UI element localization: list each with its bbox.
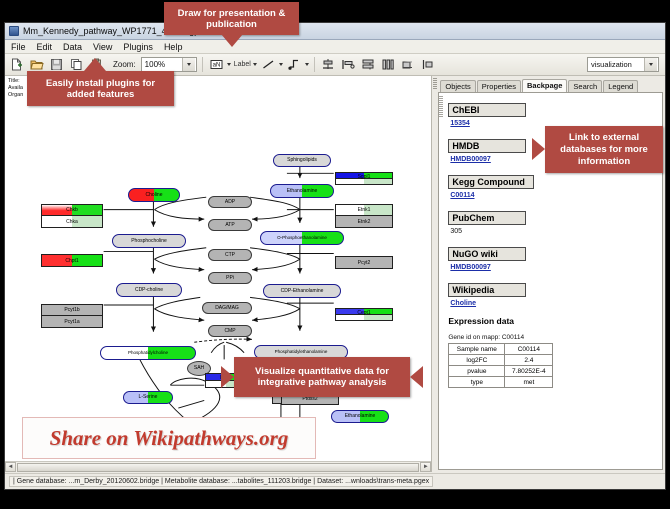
expression-data-heading: Expression data [448,316,662,326]
visualization-combo[interactable]: visualization [587,57,659,72]
side-panel-tabs: Objects Properties Backpage Search Legen… [432,76,665,92]
label-tool-label: Label [234,61,251,68]
pathway-availability-label: Availa [8,85,23,92]
metabolite-node[interactable]: Phosphocholine [112,234,186,248]
callout-plugins: Easily install plugins for added feature… [27,71,174,106]
scroll-thumb[interactable] [17,463,419,472]
scroll-left-arrow-icon[interactable]: ◄ [5,462,16,472]
zoom-combo[interactable]: 100% [141,57,197,72]
menu-data[interactable]: Data [62,42,83,52]
new-file-icon[interactable] [8,56,25,73]
ungroup-icon[interactable] [420,56,437,73]
window-titlebar: Mm_Kennedy_pathway_WP1771_45176.gpml [5,23,665,40]
backpage-section-header-kegg: Kegg Compound [448,175,534,189]
callout-share-text: Share on Wikipathways.org [50,426,289,451]
cofactor-node[interactable]: CTP [208,249,252,261]
menu-edit[interactable]: Edit [36,42,54,52]
gene-box-chpt1[interactable]: Chpt1 [41,254,103,267]
callout-draw-arrow-icon [221,34,243,47]
callout-draw: Draw for presentation & publication [164,2,299,35]
expression-half-left [336,179,364,184]
connector-tool[interactable] [286,56,309,73]
gene-label: Sgpl1 [336,175,392,178]
visualization-chevron-down-icon[interactable] [644,58,657,71]
expression-half-right [364,315,392,320]
connector-icon[interactable] [286,56,303,73]
expression-half-left [336,315,364,320]
backpage-section-header-wikipedia: Wikipedia [448,283,526,297]
zoom-label: Zoom: [113,60,136,69]
table-cell-value: met [505,377,553,388]
table-cell-key: log2FC [449,355,505,366]
gene-label: Etnk2 [336,216,392,227]
align-center-icon[interactable] [320,56,337,73]
backpage-section-header-chebi: ChEBI [448,103,526,117]
gene-row[interactable]: Pcyt1a [42,316,102,327]
gene-box-cept1[interactable]: Cept1 [335,308,393,321]
backpage-section-header-hmdb: HMDB [448,139,526,153]
gene-row-lower[interactable] [336,179,392,184]
backpage-section-header-pubchem: PubChem [448,211,526,225]
backpage-link-nugo[interactable]: HMDB00097 [450,264,662,271]
label-tool[interactable]: Label [234,61,257,68]
pathway-metadata: Title: Availa Organ [8,78,23,99]
datanode-tool[interactable]: aN [208,56,231,73]
table-cell-key: Sample name [449,344,505,355]
callout-visualize-arrow-left-icon [221,366,234,388]
gene-row[interactable]: Etnk2 [336,216,392,227]
pathway-organism-label: Organ [8,92,23,99]
callout-visualize: Visualize quantitative data for integrat… [234,357,410,397]
cofactor-node[interactable]: DAG/MAG [202,302,252,314]
gene-row[interactable]: Pcyt1b [42,305,102,316]
tab-objects[interactable]: Objects [440,80,475,92]
gene-label: Etnk1 [336,205,392,215]
menu-help[interactable]: Help [163,42,184,52]
gene-row[interactable]: Pcyt2 [336,257,392,268]
line-tool[interactable] [260,56,283,73]
cofactor-node[interactable]: ADP [208,196,252,208]
tab-backpage[interactable]: Backpage [522,79,567,92]
datanode-icon[interactable]: aN [208,56,225,73]
gene-row[interactable]: Chkb [42,205,102,216]
gene-box-pcyt1[interactable]: Pcyt1b Pcyt1a [41,304,103,328]
tab-search[interactable]: Search [568,80,602,92]
gene-label: Chka [42,216,102,227]
pathway-drawing[interactable]: Title: Availa Organ [5,76,431,472]
tab-properties[interactable]: Properties [477,80,521,92]
cofactor-node[interactable]: ATP [208,219,252,231]
table-cell-value: 7.80252E-4 [505,366,553,377]
metabolite-node[interactable]: Phosphatidylcholine [100,346,196,360]
align-left-icon[interactable] [340,56,357,73]
table-row: Sample name C00114 [449,344,553,355]
backpage-value-pubchem: 305 [450,228,662,235]
statusbar-text: | Gene database: ...m_Derby_20120602.bri… [9,476,433,487]
gene-row-lower[interactable] [336,315,392,320]
backpage-section-header-nugo: NuGO wiki [448,247,526,261]
gene-label: Pcyt1a [42,316,102,327]
app-icon [9,26,19,36]
gene-box-pcyt2[interactable]: Pcyt2 [335,256,393,269]
visualization-value: visualization [591,60,632,69]
metabolite-node[interactable]: Sphingolipids [273,154,331,167]
menubar: File Edit Data View Plugins Help [5,40,665,54]
chevron-down-icon[interactable] [182,58,195,71]
metabolite-node[interactable]: Choline [128,188,180,202]
scroll-right-arrow-icon[interactable]: ► [420,462,431,472]
table-row: pvalue 7.80252E-4 [449,366,553,377]
metabolite-node[interactable]: CDP-choline [116,283,182,297]
table-row: type met [449,377,553,388]
pathway-canvas[interactable]: Title: Availa Organ [5,76,432,472]
gene-label: Chkb [42,205,102,215]
tab-legend[interactable]: Legend [603,80,638,92]
cofactor-node[interactable]: CMP [208,325,252,337]
table-cell-value: C00114 [505,344,553,355]
gene-id-line: Gene id on mapp: C00114 [448,334,662,341]
cofactor-node[interactable]: PPi [208,272,252,284]
gene-row[interactable]: Chpt1 [42,255,102,266]
gene-label: Pcyt1b [42,305,102,315]
gene-label: Pcyt2 [336,257,392,268]
menu-plugins[interactable]: Plugins [122,42,154,52]
expression-data-table: Sample name C00114 log2FC 2.4 pvalue 7.8… [448,343,553,388]
canvas-horizontal-scrollbar[interactable]: ◄ ► [5,461,431,472]
stack-icon[interactable] [360,56,377,73]
gene-box-sgpl1[interactable]: Sgpl1 [335,172,393,185]
table-cell-key: pvalue [449,366,505,377]
metabolite-node[interactable]: CDP-Ethanolamine [263,284,341,298]
callout-share: Share on Wikipathways.org [22,417,316,459]
menu-view[interactable]: View [92,42,113,52]
table-row: log2FC 2.4 [449,355,553,366]
toolbar-separator-2 [314,57,315,72]
svg-text:aN: aN [212,63,220,69]
metabolite-node[interactable]: L-Serine [123,391,173,404]
metabolite-node[interactable]: Ethanolamine [331,410,389,423]
metabolite-node[interactable]: O-Phosphoethanolamine [260,231,344,245]
gene-label: Cept1 [336,311,392,314]
table-cell-key: type [449,377,505,388]
backpage-link-kegg[interactable]: C00114 [450,192,662,199]
panel-resize-grip[interactable] [439,95,443,117]
menu-file[interactable]: File [10,42,27,52]
group-icon[interactable] [400,56,417,73]
statusbar: | Gene database: ...m_Derby_20120602.bri… [5,473,665,489]
gene-label: Chpt1 [42,255,102,266]
table-cell-value: 2.4 [505,355,553,366]
pathway-title-label: Title: [8,78,23,85]
gene-box-chk[interactable]: Chkb Chka [41,204,103,228]
backpage-link-wikipedia[interactable]: Choline [450,300,662,307]
callout-links: Link to external databases for more info… [545,126,663,173]
toolbar-separator [202,57,203,72]
line-icon[interactable] [260,56,277,73]
gene-box-etnk[interactable]: Etnk1 Etnk2 [335,204,393,228]
zoom-value: 100% [145,60,165,69]
metabolite-node[interactable]: Ethanolamine [270,184,334,198]
callout-links-arrow-icon [532,138,545,160]
distribute-icon[interactable] [380,56,397,73]
gene-row[interactable]: Chka [42,216,102,227]
callout-plugins-arrow-icon [84,58,106,71]
panel-drag-grip[interactable] [433,77,437,90]
expression-half-right [364,179,392,184]
callout-visualize-arrow-right-icon [410,366,423,388]
gene-row[interactable]: Etnk1 [336,205,392,216]
